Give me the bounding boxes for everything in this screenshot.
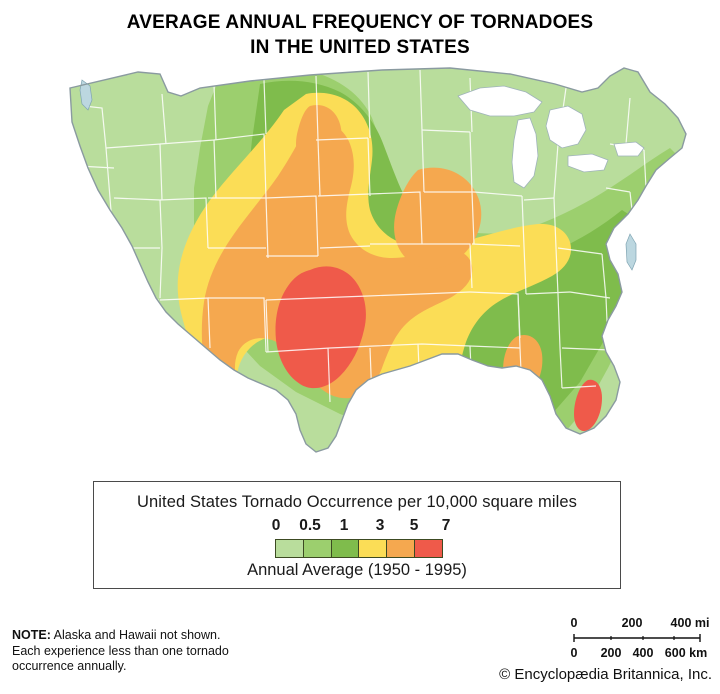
scale-km-0: 0 xyxy=(571,646,578,660)
legend-color-ramp xyxy=(275,539,443,558)
legend-tick-3: 3 xyxy=(376,517,385,535)
note-bold-prefix: NOTE: xyxy=(12,628,51,642)
legend-swatch-3-5 xyxy=(359,540,387,557)
legend-tick-0: 0 xyxy=(272,517,281,535)
note-line-1: NOTE: Alaska and Hawaii not shown. xyxy=(12,628,312,644)
legend-tick-1: 0.5 xyxy=(299,517,321,535)
scale-km-600: 600 km xyxy=(665,646,707,660)
scale-miles-labels: 0 200 400 mi xyxy=(566,616,712,631)
legend-swatch-0.5-1 xyxy=(304,540,332,557)
legend-tick-labels: 0 0.5 1 3 5 7 xyxy=(94,517,620,536)
band-5-to-7-gulf xyxy=(397,377,440,423)
legend-heading: United States Tornado Occurrence per 10,… xyxy=(94,493,620,512)
scale-mi-200: 200 xyxy=(622,616,643,630)
chesapeake-bay xyxy=(626,234,636,270)
legend-subtitle: Annual Average (1950 - 1995) xyxy=(94,561,620,580)
legend-tick-4: 5 xyxy=(410,517,419,535)
scale-km-labels: 0 200 400 600 km xyxy=(566,646,712,661)
copyright-credit: © Encyclopædia Britannica, Inc. xyxy=(0,666,712,683)
scale-km-200: 200 xyxy=(601,646,622,660)
legend-swatch-1-3 xyxy=(332,540,360,557)
legend-swatch-7-plus xyxy=(415,540,442,557)
note-line-1-text: Alaska and Hawaii not shown. xyxy=(51,628,221,642)
legend-tick-5: 7 xyxy=(442,517,451,535)
legend-swatch-5-7 xyxy=(387,540,415,557)
choropleth-bands xyxy=(10,48,710,478)
legend-tick-2: 1 xyxy=(340,517,349,535)
map-legend: United States Tornado Occurrence per 10,… xyxy=(93,481,621,589)
tornado-choropleth-map xyxy=(10,48,710,478)
scale-bar-graphic xyxy=(566,631,712,645)
scale-km-400: 400 xyxy=(633,646,654,660)
scale-mi-400: 400 mi xyxy=(671,616,710,630)
note-line-2: Each experience less than one tornado xyxy=(12,644,312,660)
legend-swatch-0-0.5 xyxy=(276,540,304,557)
map-svg xyxy=(10,48,710,478)
title-line-1: AVERAGE ANNUAL FREQUENCY OF TORNADOES xyxy=(0,10,720,35)
map-scale-bar: 0 200 400 mi 0 200 400 600 km xyxy=(566,616,712,664)
scale-mi-0: 0 xyxy=(571,616,578,630)
